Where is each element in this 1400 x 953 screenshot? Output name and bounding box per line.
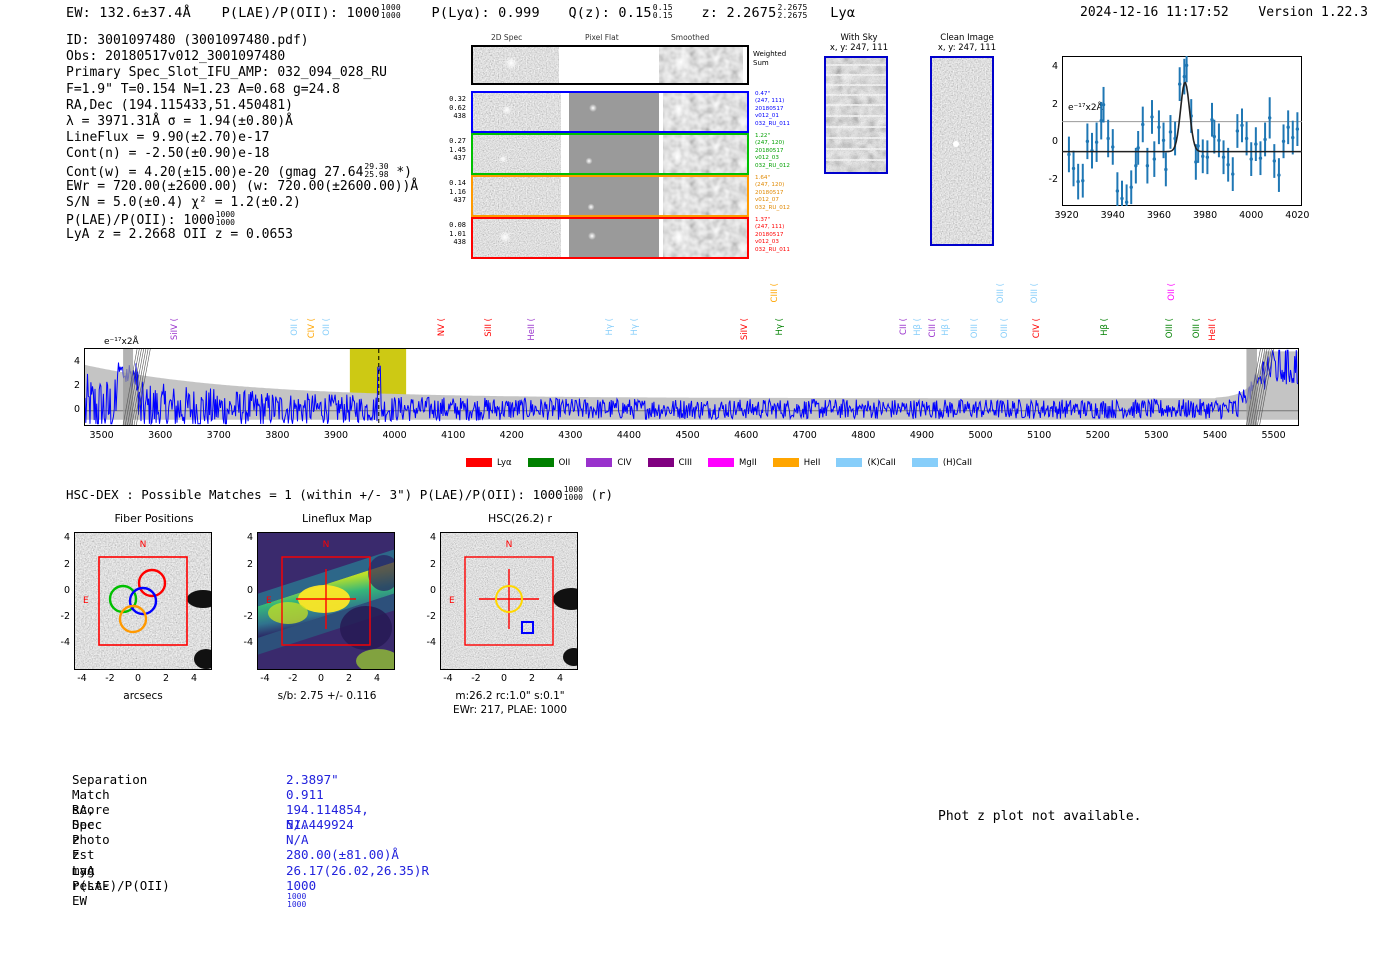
svg-text:E: E (449, 596, 455, 606)
phot-z-note: Phot z plot not available. (938, 809, 1142, 824)
spectrum-x-tick: 3800 (255, 430, 299, 441)
header-qz-label: Q(z): 0.15 (568, 5, 651, 21)
fiber-positions-y-tick: -4 (52, 637, 70, 648)
spectrum-x-tick: 3700 (197, 430, 241, 441)
legend-label-mgii: MgII (739, 458, 757, 468)
spectrum-x-tick: 5300 (1134, 430, 1178, 441)
svg-text:N: N (140, 540, 147, 550)
lineflux-map-title: Lineflux Map (257, 512, 417, 525)
fiber-positions-x-tick: 2 (156, 673, 176, 684)
lineflux-map-x-tick: 4 (367, 673, 387, 684)
fiber-cutout-image-2 (473, 135, 747, 173)
with-sky-title: With Sky (824, 33, 894, 43)
hsc-r-y-tick: -4 (418, 637, 436, 648)
spectrum-line-label: CIV ( (1032, 318, 1042, 338)
spectrum-line-label: NV ( (437, 318, 447, 336)
info-plae-fraction: 10001000 (216, 211, 235, 227)
version-text: Version 1.22.3 (1258, 5, 1368, 20)
zoom-y-tick: 4 (1042, 61, 1058, 72)
spectrum-y-tick: 4 (62, 356, 80, 367)
table-value-mag: 26.17(26.02,26.35)R (286, 863, 429, 878)
fiber-cutout-image-3 (473, 177, 747, 215)
hsc-r-x-tick: 2 (522, 673, 542, 684)
info-line-radec: RA,Dec (194.115433,51.450481) (66, 98, 418, 114)
spectrum-line-label: CII ( (899, 318, 909, 335)
lineflux-map-panel: Lineflux Map (245, 512, 425, 525)
spectrum-line-label: OII ( (1167, 283, 1177, 301)
header-timestamp-version: 2024-12-16 11:17:52 Version 1.22.3 (1080, 5, 1368, 20)
spectrum-line-label: SiII ( (484, 318, 494, 337)
legend-swatch-heii (773, 458, 799, 467)
header-plya: P(Lyα): 0.999 (432, 5, 540, 21)
hsc-r-x-tick: 4 (550, 673, 570, 684)
timestamp-text: 2024-12-16 11:17:52 (1080, 5, 1229, 20)
lineflux-map-y-tick: 4 (235, 532, 253, 543)
fiber-cutout-row-2 (471, 133, 749, 175)
spectrum-line-label: SiIV ( (740, 318, 750, 340)
fiber-cutout-row-4 (471, 217, 749, 259)
legend-swatch-hcaii (912, 458, 938, 467)
zoom-x-tick: 3960 (1143, 210, 1175, 221)
info-line-ewr: EWr = 720.00(±2600.00) (w: 720.00(±2600.… (66, 179, 418, 195)
fiber-cutout-row-3 (471, 175, 749, 217)
hsc-r-y-tick: 2 (418, 559, 436, 570)
clean-image-coords: x, y: 247, 111 (930, 43, 1004, 53)
legend-swatch-ciii (648, 458, 674, 467)
spectrum-x-tick: 4100 (431, 430, 475, 441)
spectrum-line-label: OIII ( (1030, 283, 1040, 303)
weighted-sum-label: Weighted Sum (753, 50, 786, 67)
hsc-summary-text: HSC-DEX : Possible Matches = 1 (within +… (66, 487, 563, 502)
weighted-sum-row (471, 45, 749, 85)
hsc-r-title: HSC(26.2) r (440, 512, 600, 525)
spectrum-line-label: HeII ( (527, 318, 537, 341)
fiber-positions-x-tick: 4 (184, 673, 204, 684)
fiber-positions-x-tick: -2 (100, 673, 120, 684)
header-z-fraction: 2.26752.2675 (777, 4, 807, 20)
hsc-summary-tail: (r) (583, 487, 613, 502)
spectrum-line-label: OIII ( (1165, 318, 1175, 338)
zoom-x-tick: 4000 (1235, 210, 1267, 221)
spectrum-x-tick: 4400 (607, 430, 651, 441)
spectrum-x-tick: 3600 (138, 430, 182, 441)
hsc-r-image: N E (440, 532, 578, 670)
spectrum-x-tick: 5200 (1076, 430, 1120, 441)
hsc-r-x-tick: -4 (438, 673, 458, 684)
info-line-lambda: λ = 3971.31Å σ = 1.94(±0.80)Å (66, 114, 418, 130)
legend-swatch-kcaii (836, 458, 862, 467)
header-z-suffix: Lyα (830, 5, 855, 21)
legend-label-civ: CIV (617, 458, 631, 468)
spectrum-line-label: OII ( (322, 318, 332, 336)
fiber-row-meta-1: 0.47"(247, 111) 20180517v012_01 032_RU_0… (755, 91, 790, 128)
fiber-positions-y-tick: 0 (52, 585, 70, 596)
fiber-positions-y-tick: -2 (52, 611, 70, 622)
zoom-y-tick: 0 (1042, 136, 1058, 147)
cutout-column-title-pixelflat: Pixel Flat (585, 33, 619, 42)
zoom-x-tick: 3940 (1097, 210, 1129, 221)
spectrum-line-label: CIII ( (928, 318, 938, 337)
svg-text:E: E (83, 596, 89, 606)
zoom-plot-canvas (1062, 56, 1302, 206)
fiber-positions-x-tick: -4 (72, 673, 92, 684)
with-sky-coords: x, y: 247, 111 (824, 43, 894, 53)
lineflux-map-x-tick: 2 (339, 673, 359, 684)
svg-text:N: N (323, 540, 330, 550)
zoom-x-tick: 3980 (1189, 210, 1221, 221)
fiber-positions-xlabel: arcsecs (74, 690, 212, 702)
fiber-positions-image: N E (74, 532, 212, 670)
gmag-fraction: 29.3025.98 (364, 163, 388, 179)
header-ew: EW: 132.6±37.4Å (66, 5, 191, 21)
spectrum-x-tick: 4200 (490, 430, 534, 441)
table-value-spec-z: N/A (286, 817, 309, 832)
hsc-plae-fraction: 10001000 (564, 486, 583, 502)
hsc-r-x-tick: 0 (494, 673, 514, 684)
lineflux-map-x-tick: -2 (283, 673, 303, 684)
clean-image-thumb-group: Clean Image x, y: 247, 111 (930, 33, 1004, 246)
spectrum-line-label: Hβ ( (941, 318, 951, 336)
with-sky-image (824, 56, 888, 174)
hsc-r-y-tick: 0 (418, 585, 436, 596)
hsc-r-panel: HSC(26.2) r N E 420-2-4 -4-2024 m:26.2 r… (428, 512, 618, 525)
info-line-plae: P(LAE)/P(OII): 100010001000 (66, 211, 418, 227)
table-plae-fraction: 10001000 (287, 893, 306, 909)
spectrum-legend: LyαOIICIVCIIIMgIIHeII(K)CaII(H)CaII (466, 452, 988, 471)
table-key-p-lae-p-oii-: P(LAE)/P(OII) (72, 878, 170, 893)
svg-text:E: E (266, 596, 272, 606)
lineflux-map-x-tick: -4 (255, 673, 275, 684)
fiber-row-metrics-4: 0.081.01438 (440, 221, 466, 247)
hsc-r-xlabel: m:26.2 rc:1.0" s:0.1" (422, 690, 598, 702)
spectrum-x-tick: 5000 (959, 430, 1003, 441)
table-key-mag: mag (72, 863, 95, 878)
header-qz-fraction: 0.150.15 (653, 4, 673, 20)
legend-label-oii: OII (559, 458, 571, 468)
table-value-match-score: 0.911 (286, 787, 324, 802)
spectrum-line-label: HeII ( (1208, 318, 1218, 341)
cutout-column-title-2dspec: 2D Spec (491, 33, 522, 42)
hsc-r-y-tick: 4 (418, 532, 436, 543)
legend-label-hcaii: (H)CaII (943, 458, 972, 468)
fiber-positions-title: Fiber Positions (74, 512, 234, 525)
spectrum-x-tick: 3500 (80, 430, 124, 441)
spectrum-x-tick: 4500 (666, 430, 710, 441)
fiber-positions-panel: Fiber Positions N E 420-2-4 -4-2024 arcs… (62, 512, 242, 525)
fiber-cutout-row-1 (471, 91, 749, 133)
info-line-lineflux: LineFlux = 9.90(±2.70)e-17 (66, 130, 418, 146)
spectrum-x-tick: 4900 (900, 430, 944, 441)
spectrum-x-tick: 4000 (373, 430, 417, 441)
info-line-redshifts: LyA z = 2.2668 OII z = 0.0653 (66, 227, 418, 243)
zoom-y-tick: -2 (1042, 174, 1058, 185)
header-plae-label: P(LAE)/P(OII): 1000 (222, 5, 380, 21)
spectrum-line-label: CIII ( (770, 283, 780, 302)
info-line-seeing: F=1.9" T=0.154 N=1.23 A=0.68 g=24.8 (66, 82, 418, 98)
zoom-x-tick: 3920 (1051, 210, 1083, 221)
fiber-row-meta-3: 1.64"(247, 120) 20180517v012_07 032_RU_0… (755, 175, 790, 212)
spectrum-x-tick: 4700 (783, 430, 827, 441)
header-summary-line: EW: 132.6±37.4Å P(LAE)/P(OII): 100010001… (66, 4, 855, 21)
lineflux-map-xlabel: s/b: 2.75 +/- 0.116 (245, 690, 409, 702)
lineflux-map-y-tick: 0 (235, 585, 253, 596)
header-plae-fraction: 10001000 (381, 4, 401, 20)
zoom-x-tick: 4020 (1281, 210, 1313, 221)
table-key-separation: Separation (72, 772, 147, 787)
spectrum-line-label: CIV ( (307, 318, 317, 338)
fiber-cutout-image-1 (473, 93, 747, 131)
spectrum-line-label: SiIV ( (170, 318, 180, 340)
spectrum-line-label: OII ( (290, 318, 300, 336)
info-line-cont-w: Cont(w) = 4.20(±15.00)e-20 (gmag 27.6429… (66, 163, 418, 179)
fiber-row-metrics-2: 0.271.45437 (440, 137, 466, 163)
legend-swatch-lyα (466, 458, 492, 467)
cutout-panel-group: 2D Spec Pixel Flat Smoothed (463, 33, 803, 258)
table-value-p-lae-p-oii-: 100010001000 (286, 878, 316, 909)
fiber-positions-x-tick: 0 (128, 673, 148, 684)
fiber-row-metrics-3: 0.141.16437 (440, 179, 466, 205)
legend-swatch-oii (528, 458, 554, 467)
spectrum-canvas (85, 349, 1298, 425)
fiber-row-meta-2: 1.22"(247, 120) 20180517v012_03 032_RU_0… (755, 133, 790, 170)
info-line-snr: S/N = 5.0(±0.4) χ² = 1.2(±0.2) (66, 195, 418, 211)
spectrum-line-label: Hγ ( (775, 318, 785, 335)
spectrum-x-tick: 4300 (548, 430, 592, 441)
spectrum-line-label: OIII ( (1000, 318, 1010, 338)
spectrum-y-tick: 2 (62, 380, 80, 391)
spectrum-frame (84, 348, 1299, 426)
spectrum-line-label: Hγ ( (605, 318, 615, 335)
spectrum-units-label: e⁻¹⁷x2Å (104, 337, 139, 347)
legend-label-kcaii: (K)CaII (867, 458, 895, 468)
fiber-positions-y-tick: 2 (52, 559, 70, 570)
clean-image-image (930, 56, 994, 246)
lineflux-map-y-tick: -2 (235, 611, 253, 622)
spectrum-x-tick: 4600 (724, 430, 768, 441)
fiber-row-metrics-1: 0.320.62438 (440, 95, 466, 121)
spectrum-x-tick: 5500 (1252, 430, 1296, 441)
spectrum-x-tick: 3900 (314, 430, 358, 441)
header-z-label: z: 2.2675 (701, 5, 776, 21)
legend-swatch-mgii (708, 458, 734, 467)
clean-image-title: Clean Image (930, 33, 1004, 43)
spectrum-line-label: OIII ( (996, 283, 1006, 303)
lineflux-map-image: N E (257, 532, 395, 670)
spectrum-line-label: OIII ( (970, 318, 980, 338)
source-info-block: ID: 3001097480 (3001097480.pdf) Obs: 201… (66, 33, 418, 243)
svg-text:N: N (506, 540, 513, 550)
fiber-cutout-image-4 (473, 219, 747, 257)
table-value-photo-z: N/A (286, 832, 309, 847)
fiber-row-meta-4: 1.37"(247, 111) 20180517v012_03 032_RU_0… (755, 217, 790, 254)
table-value-separation: 2.3897" (286, 772, 339, 787)
cutout-column-title-smoothed: Smoothed (671, 33, 709, 42)
weighted-sum-image (473, 47, 747, 83)
lineflux-map-y-tick: 2 (235, 559, 253, 570)
spectrum-line-label: OIII ( (1192, 318, 1202, 338)
info-line-specslot: Primary Spec_Slot_IFU_AMP: 032_094_028_R… (66, 65, 418, 81)
emission-line-zoom-plot: e⁻¹⁷x2Å -2024 392039403960398040004020 (1040, 48, 1305, 228)
spectrum-line-label: Hγ ( (630, 318, 640, 335)
with-sky-thumb-group: With Sky x, y: 247, 111 (824, 33, 894, 174)
spectrum-line-label: Hβ ( (1100, 318, 1110, 336)
info-line-id: ID: 3001097480 (3001097480.pdf) (66, 33, 418, 49)
legend-label-heii: HeII (804, 458, 821, 468)
info-line-cont-n: Cont(n) = -2.50(±0.90)e-18 (66, 146, 418, 162)
legend-swatch-civ (586, 458, 612, 467)
fiber-positions-y-tick: 4 (52, 532, 70, 543)
hsc-summary-line: HSC-DEX : Possible Matches = 1 (within +… (66, 486, 613, 502)
spectrum-x-tick: 4800 (841, 430, 885, 441)
hsc-r-y-tick: -2 (418, 611, 436, 622)
spectrum-x-tick: 5100 (1017, 430, 1061, 441)
lineflux-map-x-tick: 0 (311, 673, 331, 684)
zoom-y-tick: 2 (1042, 99, 1058, 110)
spectrum-x-tick: 5400 (1193, 430, 1237, 441)
info-line-obs: Obs: 20180517v012_3001097480 (66, 49, 418, 65)
hsc-r-x-tick: -2 (466, 673, 486, 684)
legend-label-ciii: CIII (679, 458, 692, 468)
spectrum-line-label: Hβ ( (913, 318, 923, 336)
spectrum-y-tick: 0 (62, 404, 80, 415)
legend-label-lyα: Lyα (497, 458, 512, 468)
hsc-r-caption2: EWr: 217, PLAE: 1000 (422, 704, 598, 716)
table-value-est-lya-rest-ew: 280.00(±81.00)Å (286, 847, 399, 862)
lineflux-map-y-tick: -4 (235, 637, 253, 648)
